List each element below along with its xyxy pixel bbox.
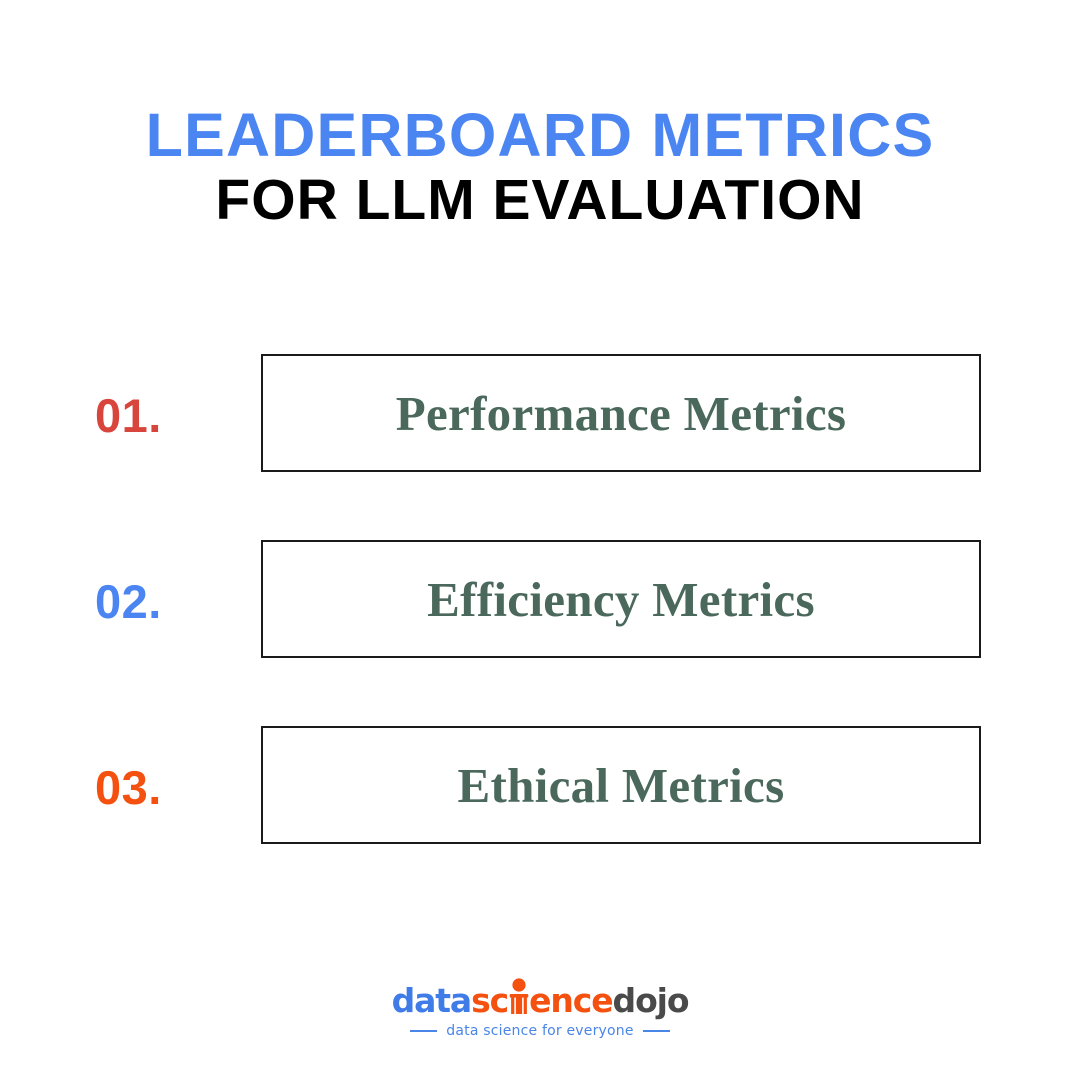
brand-logo: datasc encedojo data science for everyon… xyxy=(0,984,1080,1038)
page-title-line-2: FOR LLM EVALUATION xyxy=(0,170,1080,232)
metric-box-label-03: Ethical Metrics xyxy=(458,761,785,810)
dash-right-icon xyxy=(643,1030,670,1032)
metric-box-01[interactable]: Performance Metrics xyxy=(261,354,981,472)
logo-wordmark: datasc encedojo xyxy=(392,984,689,1017)
metrics-list: 01. Performance Metrics 02. Efficiency M… xyxy=(0,354,1080,848)
title-block: LEADERBOARD METRICS FOR LLM EVALUATION xyxy=(0,104,1080,232)
list-item-number-01: 01. xyxy=(95,354,245,476)
list-item: 01. Performance Metrics xyxy=(0,354,1080,476)
metric-box-03[interactable]: Ethical Metrics xyxy=(261,726,981,844)
slide-canvas: LEADERBOARD METRICS FOR LLM EVALUATION 0… xyxy=(0,0,1080,1080)
list-item-number-03: 03. xyxy=(95,726,245,848)
metric-box-label-02: Efficiency Metrics xyxy=(427,575,815,624)
metric-box-02[interactable]: Efficiency Metrics xyxy=(261,540,981,658)
logo-tagline-text: data science for everyone xyxy=(446,1024,633,1038)
person-icon xyxy=(508,978,529,1014)
page-title-line-1: LEADERBOARD METRICS xyxy=(0,104,1080,166)
metric-box-label-01: Performance Metrics xyxy=(396,389,847,438)
logo-text-sc: sc xyxy=(471,981,508,1020)
list-item: 02. Efficiency Metrics xyxy=(0,540,1080,662)
logo-text-dojo: dojo xyxy=(613,981,689,1020)
logo-tagline: data science for everyone xyxy=(0,1024,1080,1038)
list-item: 03. Ethical Metrics xyxy=(0,726,1080,848)
logo-text-data: data xyxy=(392,981,472,1020)
logo-text-ence: ence xyxy=(529,981,612,1020)
dash-left-icon xyxy=(410,1030,437,1032)
list-item-number-02: 02. xyxy=(95,540,245,662)
